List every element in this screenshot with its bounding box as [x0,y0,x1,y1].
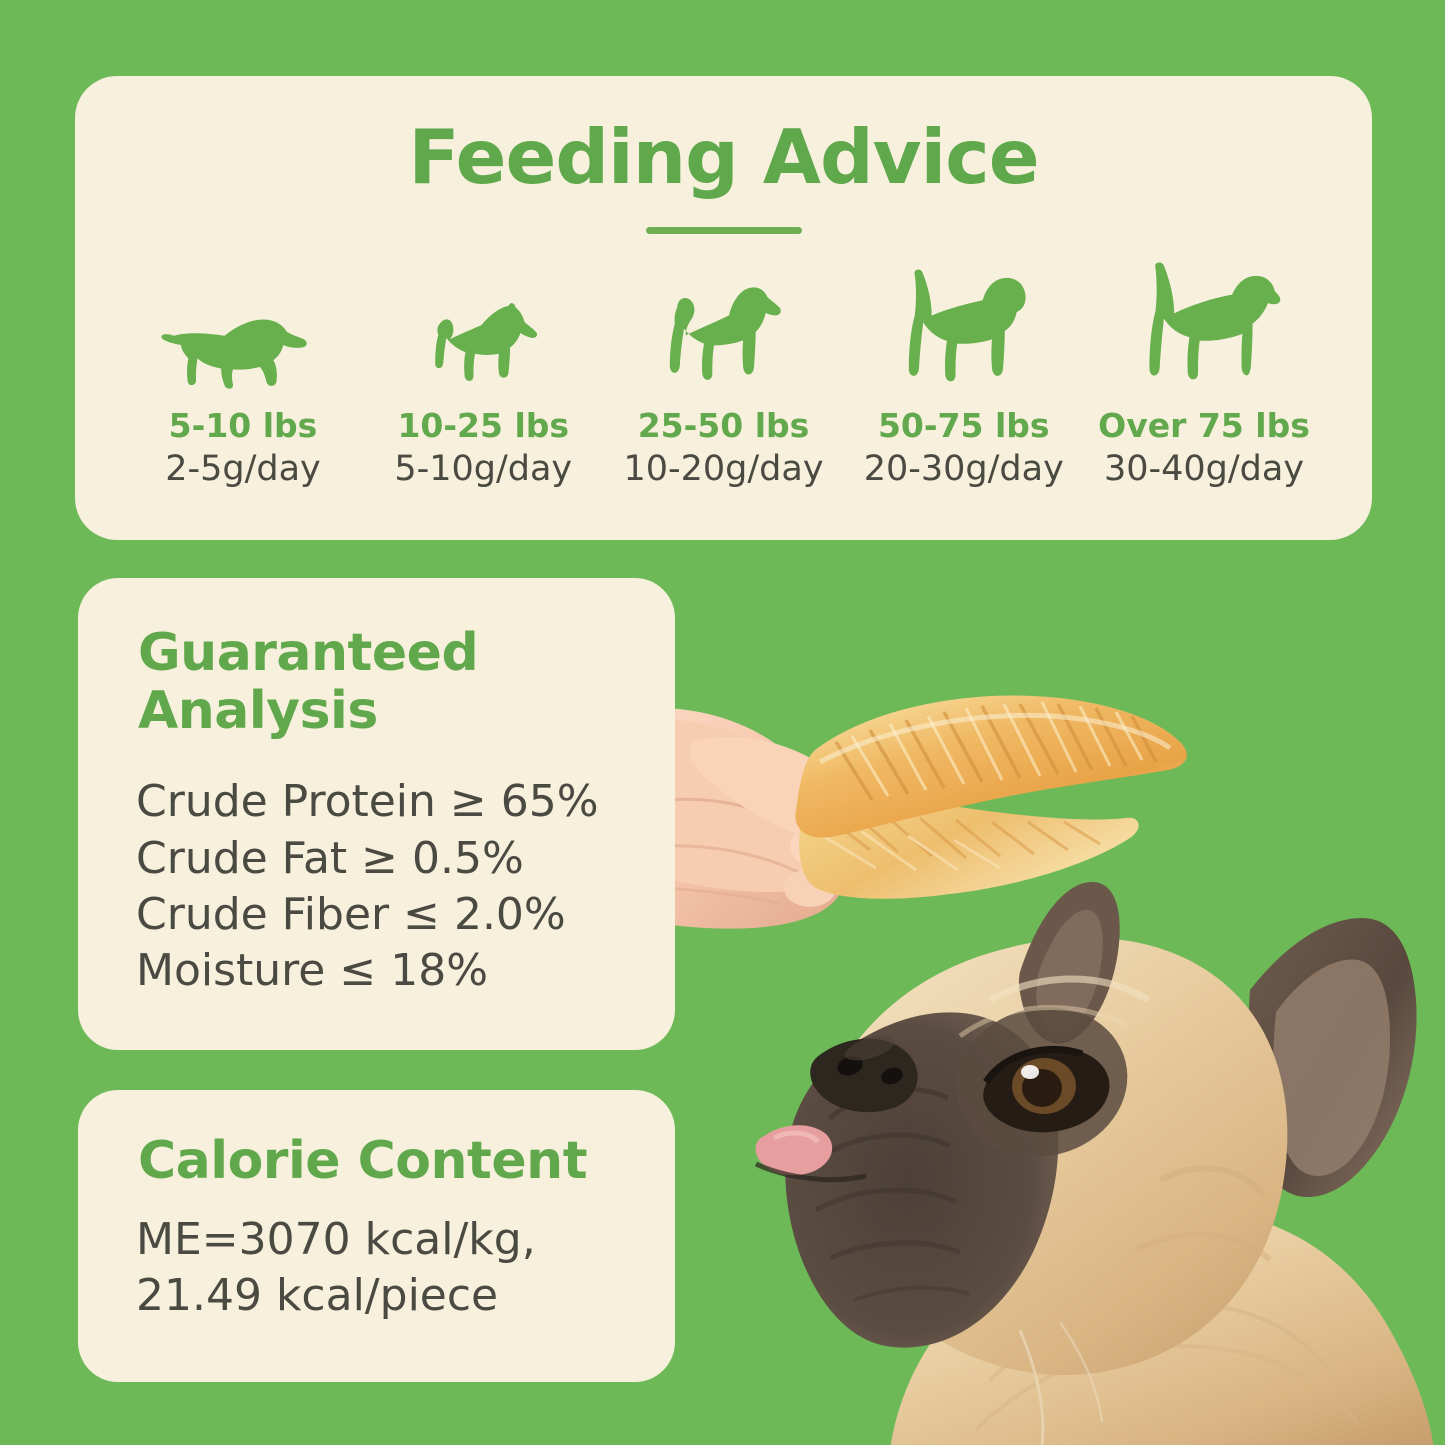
list-item: Crude Protein ≥ 65% [136,774,675,830]
dog-silhouette-terrier-icon [649,262,799,392]
heading-line-2: Analysis [138,681,378,741]
feeding-advice-card: Feeding Advice 5-10 lbs 2-5g/day [75,76,1372,540]
amount-label: 20-30g/day [864,449,1064,489]
list-item: Crude Fat ≥ 0.5% [136,831,675,887]
feeding-chart-row: 5-10 lbs 2-5g/day 10-25 lbs 5-10g/day [75,234,1372,489]
feeding-entry-over-75: Over 75 lbs 30-40g/day [1088,262,1320,489]
product-info-infographic: Feeding Advice 5-10 lbs 2-5g/day [0,0,1445,1445]
weight-label: 50-75 lbs [878,406,1050,445]
dog-silhouette-puppy-icon [159,262,327,392]
amount-label: 5-10g/day [394,449,572,489]
weight-label: 10-25 lbs [397,406,569,445]
french-bulldog-photo [690,860,1445,1445]
title-divider [646,227,802,234]
dog-silhouette-large-icon [1123,262,1285,392]
dog-silhouette-small-icon [419,262,547,392]
dog-silhouette-hound-icon [887,262,1041,392]
feeding-entry-10-25: 10-25 lbs 5-10g/day [367,262,599,489]
feeding-entry-25-50: 25-50 lbs 10-20g/day [608,262,840,489]
calorie-content-card: Calorie Content ME=3070 kcal/kg, 21.49 k… [78,1090,675,1382]
heading-line-1: Guaranteed [138,623,478,683]
list-item: Moisture ≤ 18% [136,943,675,999]
weight-label: 5-10 lbs [169,406,318,445]
amount-label: 2-5g/day [165,449,321,489]
feeding-entry-5-10: 5-10 lbs 2-5g/day [127,262,359,489]
calorie-content-heading: Calorie Content [78,1090,675,1190]
weight-label: Over 75 lbs [1098,406,1310,445]
analysis-list: Crude Protein ≥ 65% Crude Fat ≥ 0.5% Cru… [78,740,675,999]
amount-label: 30-40g/day [1104,449,1304,489]
amount-label: 10-20g/day [623,449,823,489]
weight-label: 25-50 lbs [638,406,810,445]
calorie-line-2: 21.49 kcal/piece [136,1268,675,1323]
calorie-line-1: ME=3070 kcal/kg, [136,1212,675,1267]
page-title: Feeding Advice [75,76,1372,197]
list-item: Crude Fiber ≤ 2.0% [136,887,675,943]
calorie-content-body: ME=3070 kcal/kg, 21.49 kcal/piece [78,1190,675,1323]
guaranteed-analysis-heading: Guaranteed Analysis [78,578,675,740]
guaranteed-analysis-card: Guaranteed Analysis Crude Protein ≥ 65% … [78,578,675,1050]
feeding-entry-50-75: 50-75 lbs 20-30g/day [848,262,1080,489]
